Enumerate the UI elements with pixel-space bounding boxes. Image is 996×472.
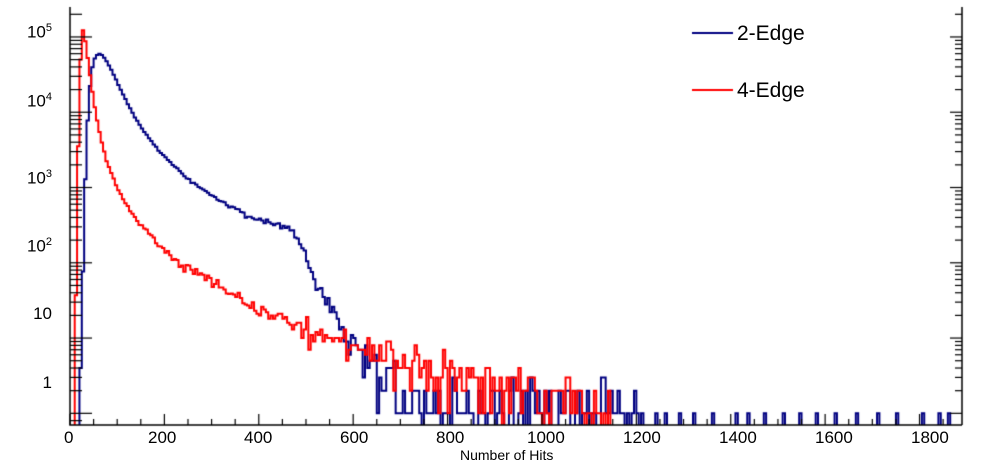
histogram-canvas [0, 0, 996, 472]
chart-root: 1 10 102 103 104 105 0 200 400 600 800 1… [0, 0, 996, 472]
